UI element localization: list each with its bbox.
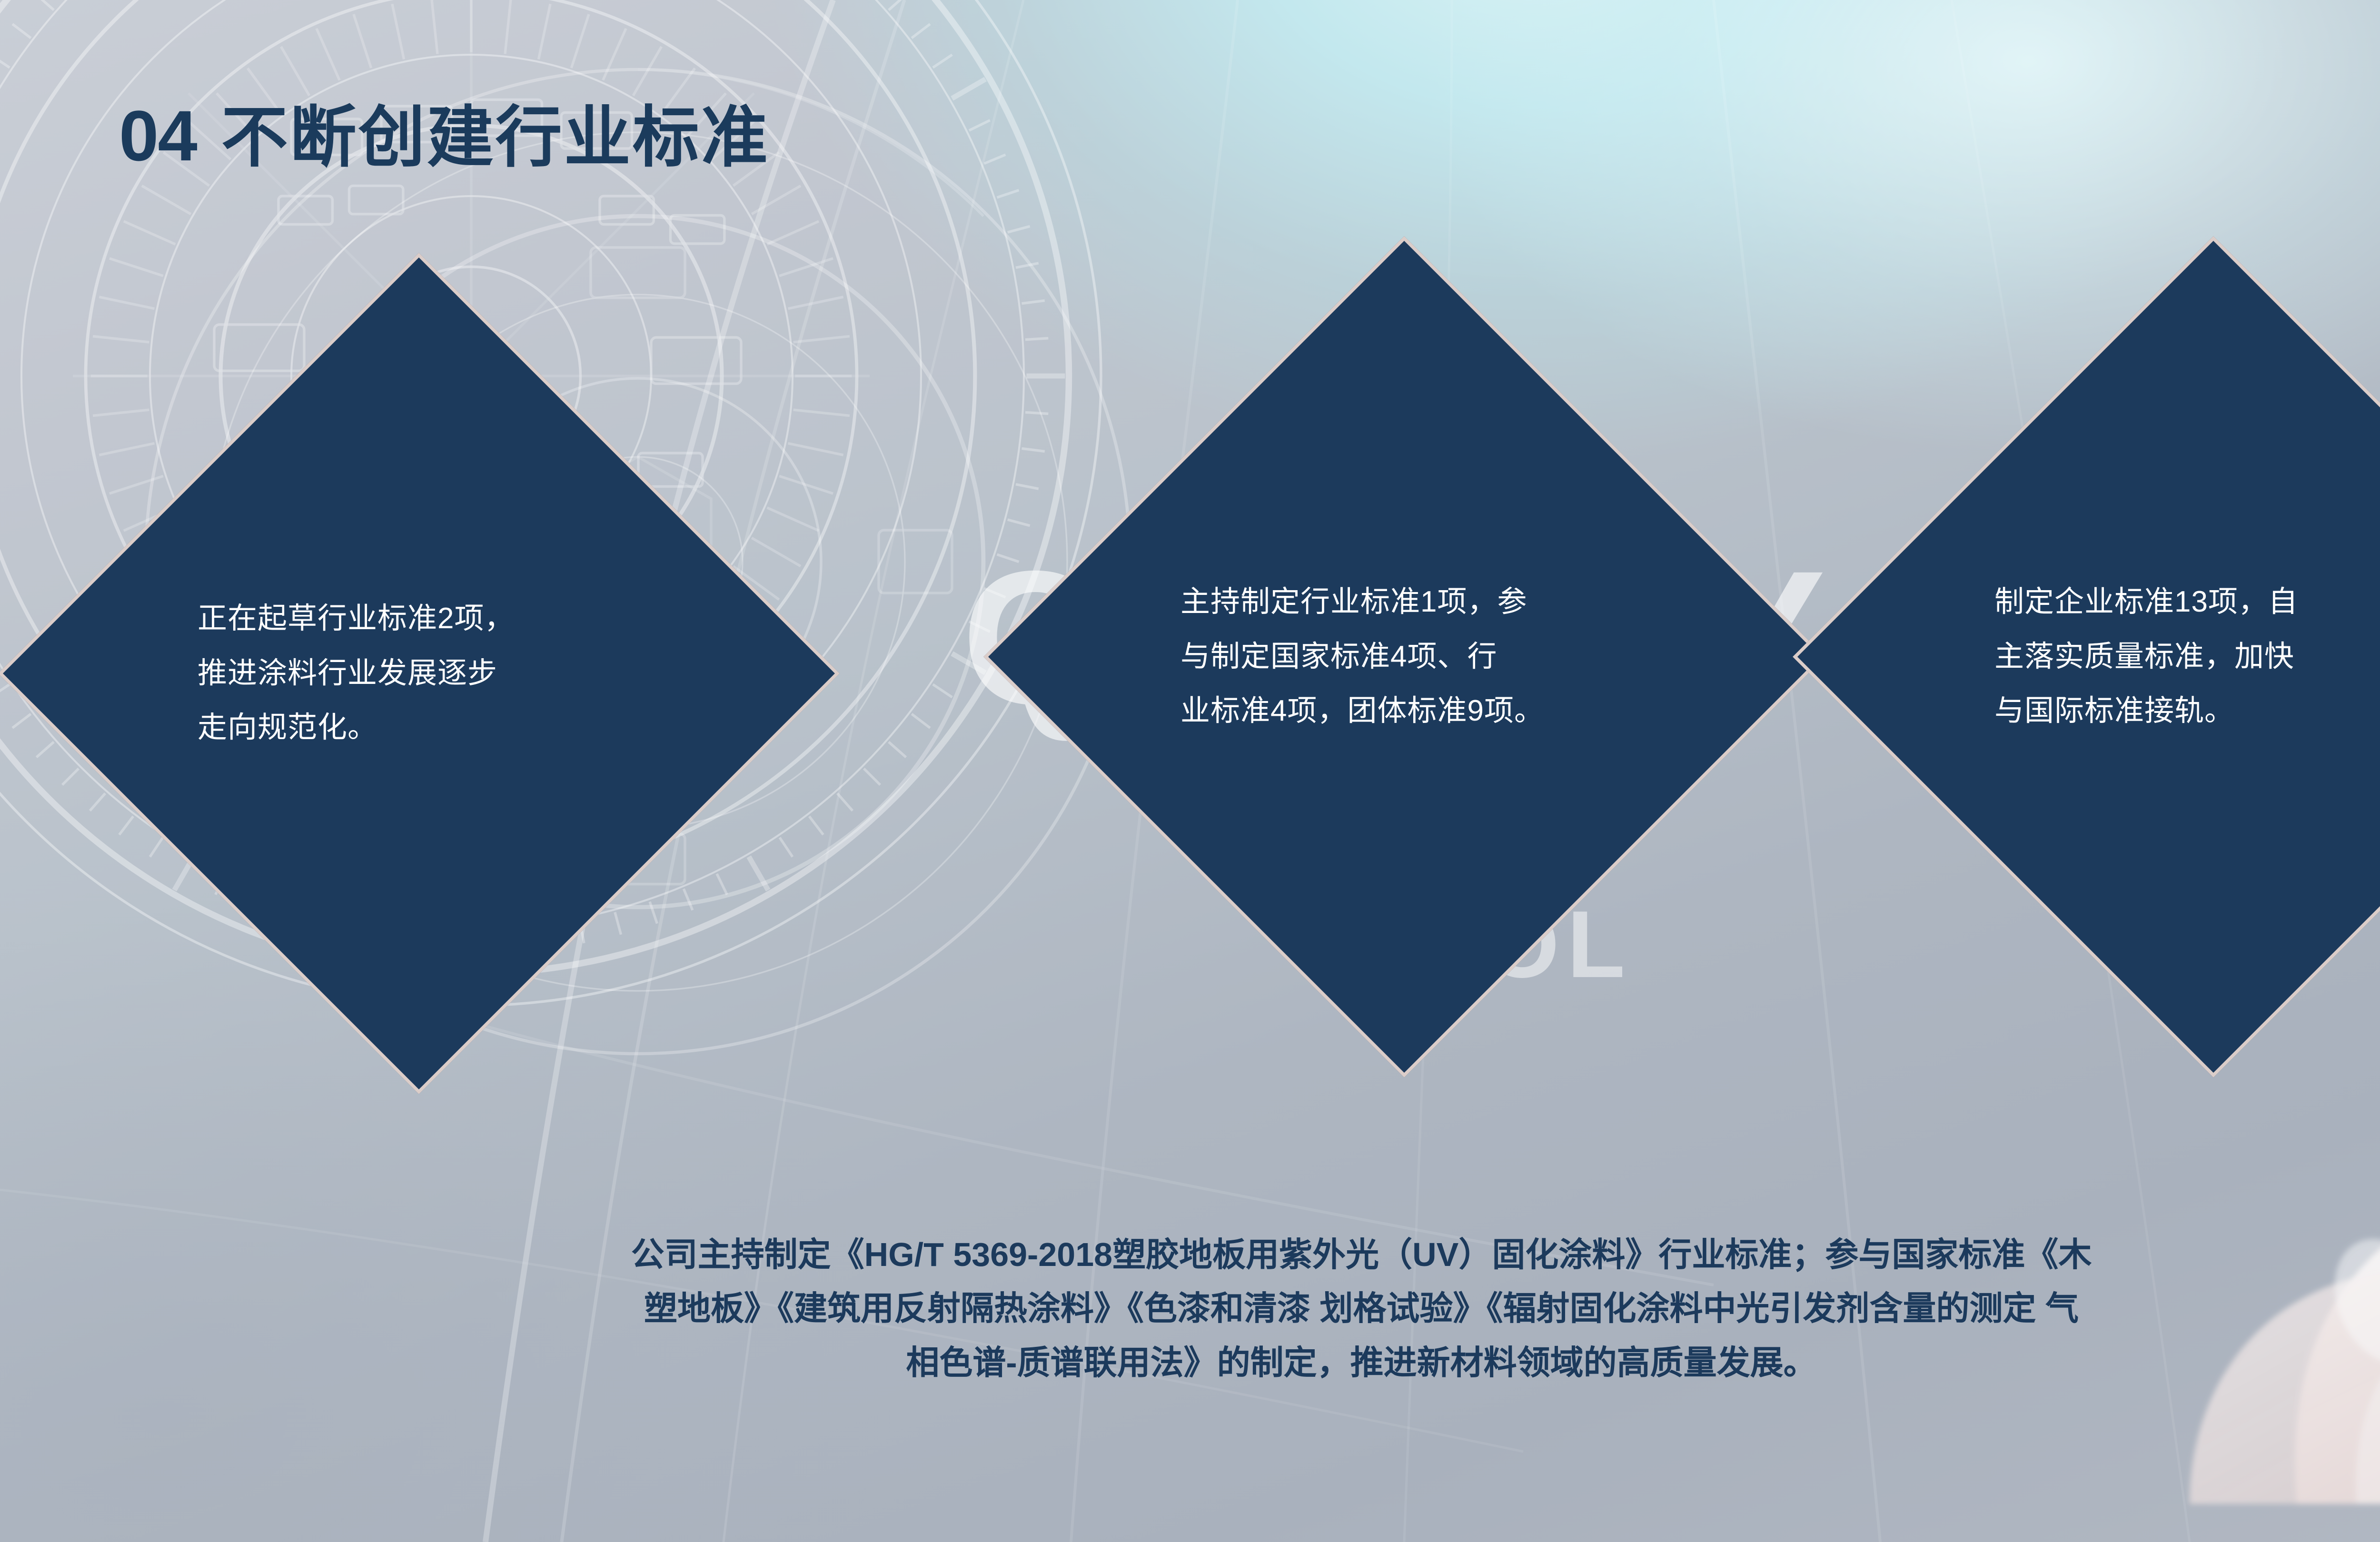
diamond-1-line-3: 走向规范化。 bbox=[198, 701, 638, 755]
diamond-card-1[interactable]: 正在起草行业标准2项， 推进涂料行业发展逐步 走向规范化。 bbox=[121, 376, 716, 971]
diamond-1-line-2: 推进涂料行业发展逐步 bbox=[198, 646, 638, 701]
footnote-line-3: 相色谱-质谱联用法》的制定，推进新材料领域的高质量发展。 bbox=[267, 1336, 2380, 1390]
footnote-line-1: 公司主持制定《HG/T 5369-2018塑胶地板用紫外光（UV）固化涂料》行业… bbox=[267, 1228, 2380, 1282]
diamond-text-1: 正在起草行业标准2项， 推进涂料行业发展逐步 走向规范化。 bbox=[121, 376, 716, 971]
footnote-line-2: 塑地板》《建筑用反射隔热涂料》《色漆和清漆 划格试验》《辐射固化涂料中光引发剂含… bbox=[267, 1282, 2380, 1335]
diamond-text-3: 制定企业标准13项，自 主落实质量标准，加快 与国际标准接轨。 bbox=[1916, 359, 2380, 954]
diamond-2-line-1: 主持制定行业标准1项，参 bbox=[1180, 575, 1630, 630]
footnote-paragraph: 公司主持制定《HG/T 5369-2018塑胶地板用紫外光（UV）固化涂料》行业… bbox=[267, 1228, 2380, 1390]
diamond-text-2: 主持制定行业标准1项，参 与制定国家标准4项、行 业标准4项，团体标准9项。 bbox=[1107, 359, 1702, 954]
diamond-card-2[interactable]: 主持制定行业标准1项，参 与制定国家标准4项、行 业标准4项，团体标准9项。 bbox=[1107, 359, 1702, 954]
diamond-3-line-3: 与国际标准接轨。 bbox=[1994, 684, 2380, 739]
diamond-3-line-2: 主落实质量标准，加快 bbox=[1994, 630, 2380, 684]
diamond-card-3[interactable]: 制定企业标准13项，自 主落实质量标准，加快 与国际标准接轨。 bbox=[1916, 359, 2380, 954]
diamond-2-line-2: 与制定国家标准4项、行 bbox=[1180, 630, 1630, 684]
slide-title-text: 不断创建行业标准 bbox=[221, 104, 770, 171]
diamond-1-line-1: 正在起草行业标准2项， bbox=[198, 592, 638, 646]
diamond-3-line-1: 制定企业标准13项，自 bbox=[1994, 575, 2380, 630]
diamond-2-line-3: 业标准4项，团体标准9项。 bbox=[1180, 684, 1630, 739]
slide-title-number: 04 bbox=[119, 100, 197, 171]
slide-title: 04 不断创建行业标准 bbox=[119, 100, 770, 171]
slide-canvas: QUALITY ROL 04 不断创建行业标准 正在起草行业标准2项 bbox=[0, 0, 2380, 1542]
